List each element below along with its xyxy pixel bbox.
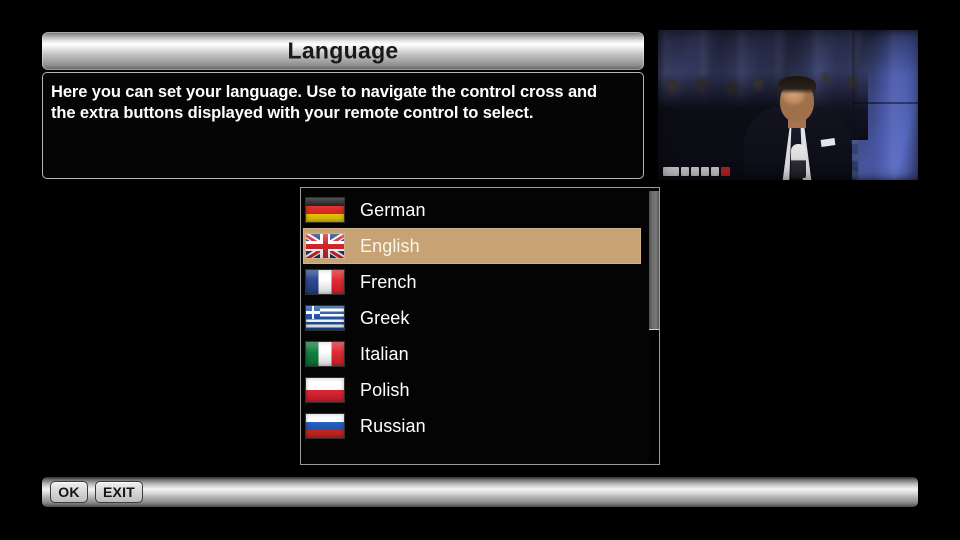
flag-poland-icon [306,378,344,402]
tv-settings-screen: Language Here you can set your language.… [0,0,960,540]
language-row-greek[interactable]: Greek [303,300,643,336]
language-label: Russian [360,416,426,437]
flag-italy-icon [306,342,344,366]
ok-button[interactable]: OK [50,481,88,503]
flag-detail [306,311,320,314]
video-vignette [658,30,918,180]
flag-france-icon [306,270,344,294]
language-label: French [360,272,417,293]
flag-greece-icon [306,306,344,330]
flag-stripe [306,234,344,258]
language-label: German [360,200,426,221]
flag-detail [312,306,315,319]
flag-germany-icon [306,198,344,222]
flag-stripe [306,234,344,258]
page-title: Language [42,38,644,65]
flag-stripe [320,234,330,258]
language-label: English [360,236,420,257]
exit-button[interactable]: EXIT [95,481,143,503]
language-row-english[interactable]: English [303,228,641,264]
flag-detail [306,306,320,319]
window-title-bar: Language [42,32,644,70]
language-row-russian[interactable]: Russian [303,408,643,444]
language-list[interactable]: GermanEnglishFrenchGreekItalianPolishRus… [303,192,643,444]
flag-stripe [306,234,344,258]
list-scrollbar-thumb[interactable] [649,191,659,330]
flag-stripe [306,234,344,258]
language-label: Polish [360,380,410,401]
flag-stripe [306,241,344,251]
language-row-german[interactable]: German [303,192,643,228]
flag-stripe [306,244,344,249]
action-bar: OKEXIT [42,477,918,507]
flag-stripe [323,234,328,258]
flag-united-kingdom-icon [306,234,344,258]
language-row-polish[interactable]: Polish [303,372,643,408]
flag-russia-icon [306,414,344,438]
list-scrollbar-track[interactable] [649,190,659,462]
language-row-french[interactable]: French [303,264,643,300]
language-label: Greek [360,308,410,329]
description-text: Here you can set your language. Use to n… [51,82,633,124]
description-panel: Here you can set your language. Use to n… [42,72,644,179]
language-row-italian[interactable]: Italian [303,336,643,372]
video-preview[interactable] [658,30,918,180]
language-list-panel[interactable]: GermanEnglishFrenchGreekItalianPolishRus… [300,187,660,465]
language-label: Italian [360,344,409,365]
